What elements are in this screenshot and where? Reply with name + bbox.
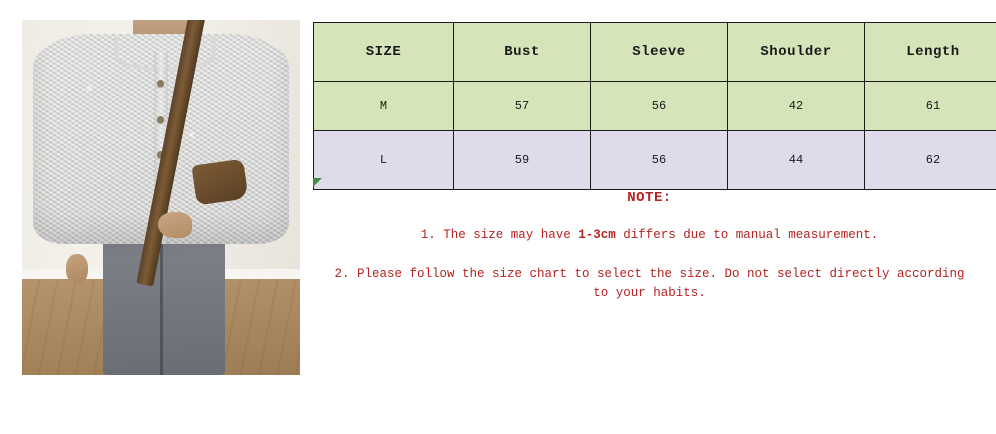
cell-sleeve: 56 [591, 131, 728, 190]
note-block: NOTE: 1. The size may have 1-3cm differs… [313, 190, 986, 323]
photo-right-hand [158, 212, 192, 238]
cell-length: 62 [865, 131, 996, 190]
cell-bust: 59 [454, 131, 591, 190]
note-line-1-suffix: differs due to manual measurement. [616, 228, 879, 242]
note-line-1-prefix: 1. The size may have [421, 228, 579, 242]
photo-left-hand [66, 254, 88, 284]
cell-size: M [314, 82, 454, 131]
note-line-1: 1. The size may have 1-3cm differs due t… [325, 226, 975, 245]
cell-shoulder: 44 [728, 131, 865, 190]
column-header-length: Length [865, 23, 996, 82]
photo-button [157, 116, 164, 123]
table-resize-handle-icon [313, 178, 322, 187]
cell-sleeve: 56 [591, 82, 728, 131]
table-row: L 59 56 44 62 [314, 131, 996, 190]
note-title: NOTE: [313, 190, 986, 206]
table-row: M 57 56 42 61 [314, 82, 996, 131]
note-line-2: 2. Please follow the size chart to selec… [325, 265, 975, 303]
column-header-sleeve: Sleeve [591, 23, 728, 82]
column-header-size: SIZE [314, 23, 454, 82]
cell-bust: 57 [454, 82, 591, 131]
size-chart-table: SIZE Bust Sleeve Shoulder Length M 57 56… [313, 22, 996, 190]
cell-length: 61 [865, 82, 996, 131]
cell-size: L [314, 131, 454, 190]
note-line-1-measurement: 1-3cm [578, 228, 616, 242]
table-header-row: SIZE Bust Sleeve Shoulder Length [314, 23, 996, 82]
column-header-bust: Bust [454, 23, 591, 82]
product-photo [22, 20, 300, 375]
cell-shoulder: 42 [728, 82, 865, 131]
column-header-shoulder: Shoulder [728, 23, 865, 82]
